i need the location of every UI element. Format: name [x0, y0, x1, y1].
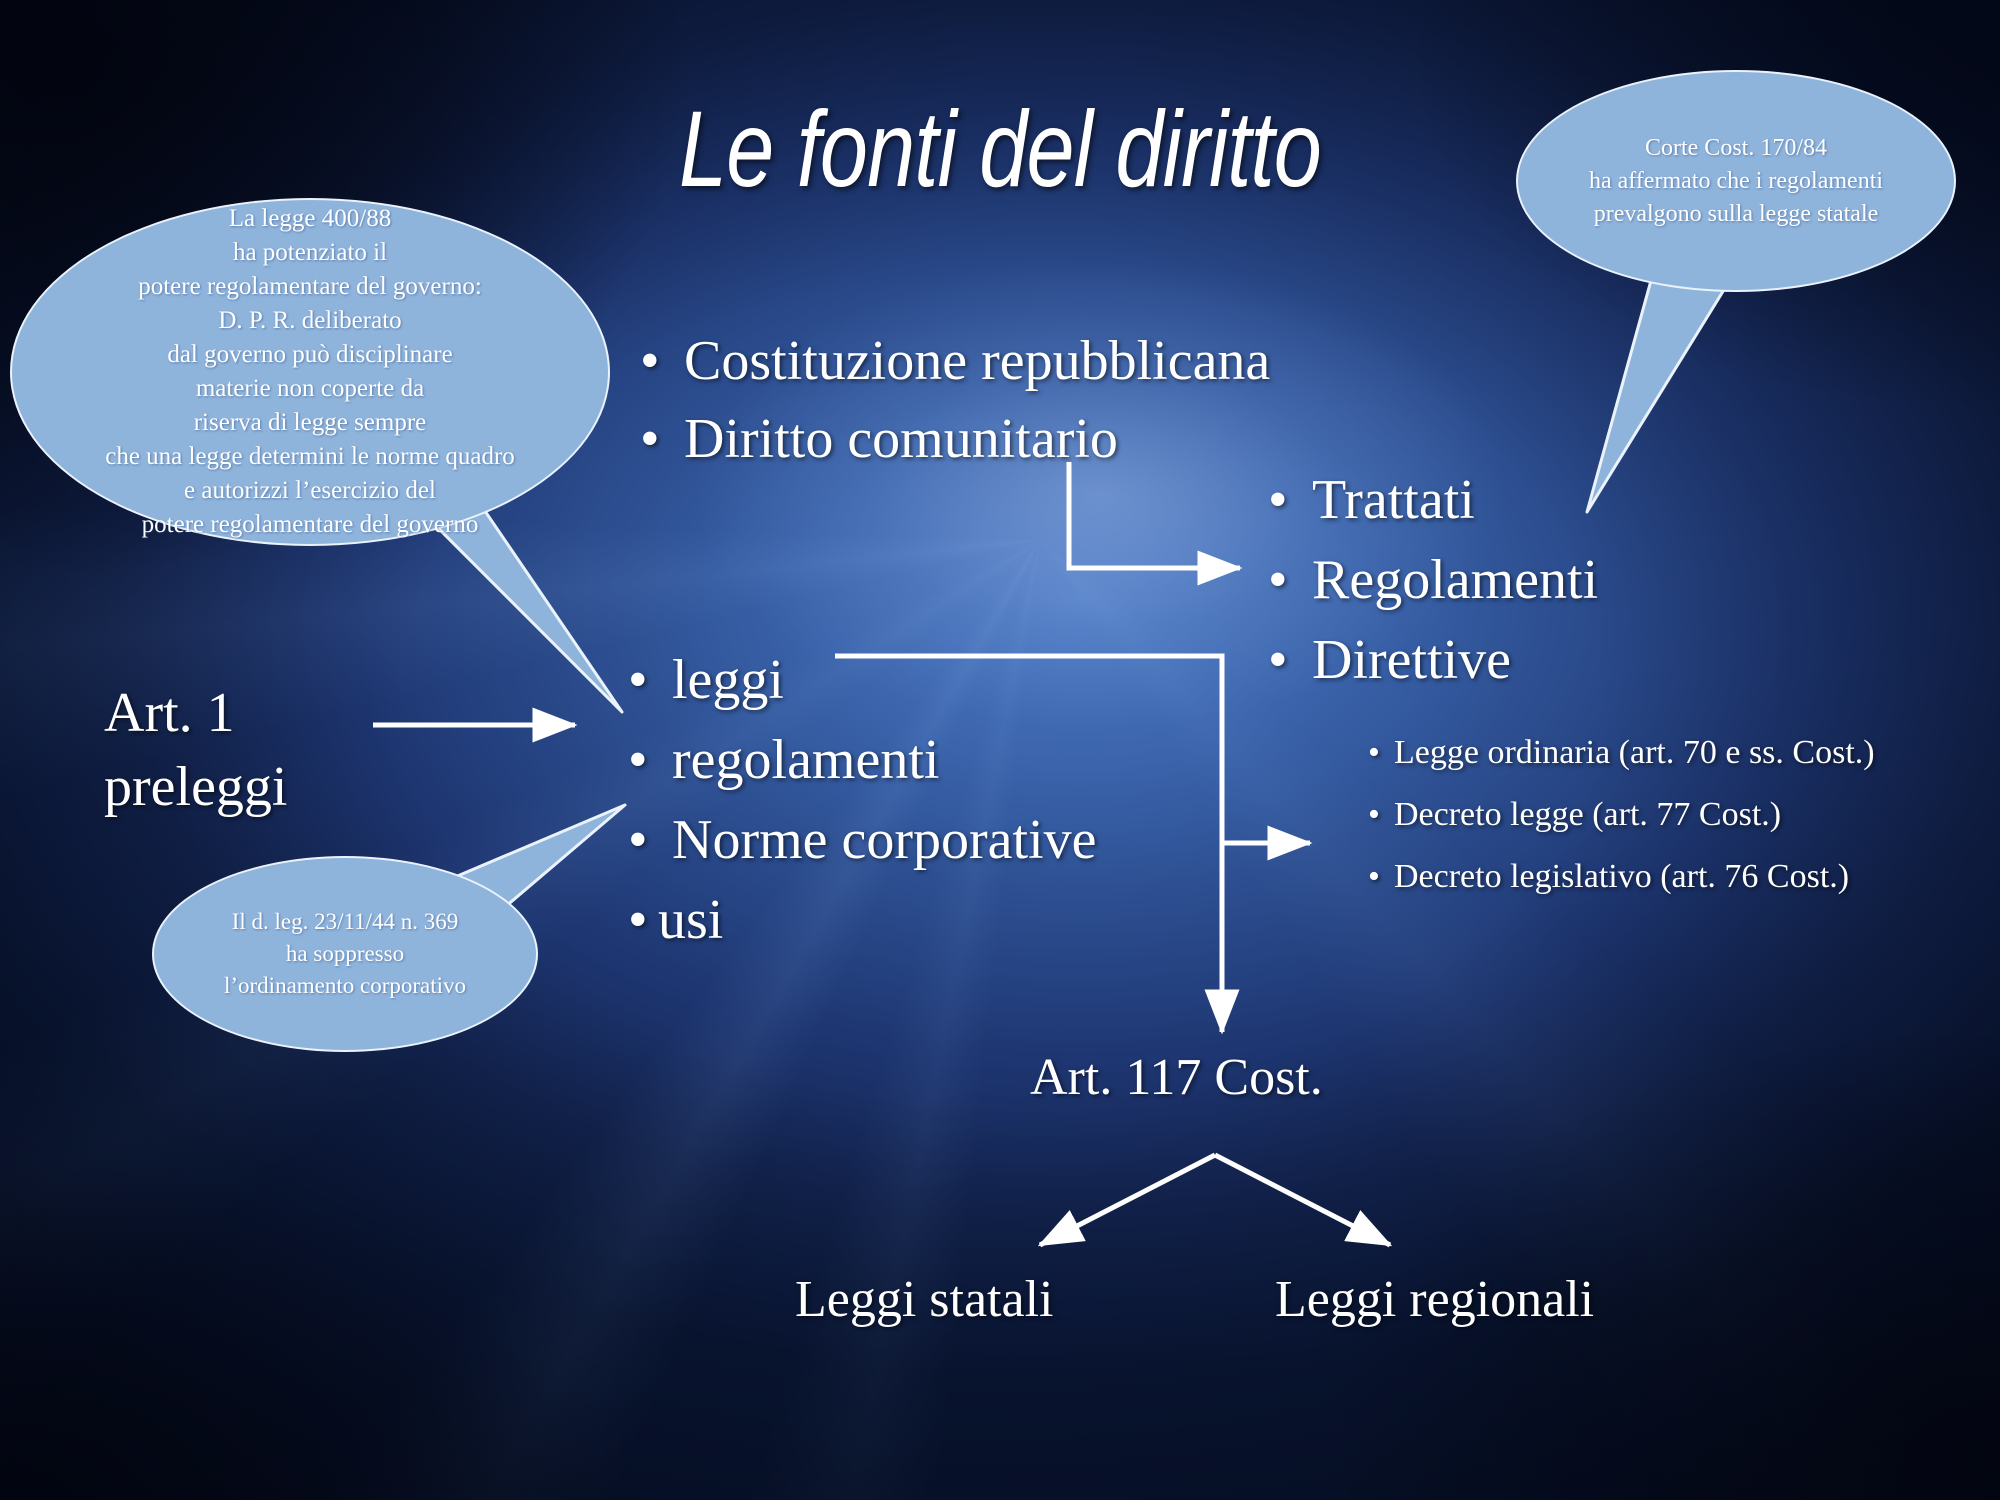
- callout-line: Corte Cost. 170/84: [1589, 132, 1883, 165]
- list-item: Decreto legislativo (art. 76 Cost.): [1368, 846, 1875, 908]
- callout-d-leg-text: Il d. leg. 23/11/44 n. 369 ha soppresso …: [198, 906, 492, 1002]
- list-item: usi: [628, 880, 1096, 960]
- list-item: Regolamenti: [1268, 540, 1598, 620]
- list-item: Norme corporative: [628, 800, 1096, 880]
- list-item: Costituzione repubblicana: [640, 322, 1270, 400]
- callout-line: La legge 400/88: [105, 202, 515, 236]
- callout-line: Il d. leg. 23/11/44 n. 369: [224, 906, 466, 938]
- list-item: Diritto comunitario: [640, 400, 1270, 478]
- list-primary-sources: Costituzione repubblicana Diritto comuni…: [640, 322, 1270, 478]
- callout-line: riserva di legge sempre: [105, 406, 515, 440]
- callout-line: materie non coperte da: [105, 372, 515, 406]
- list-eu-sources: Trattati Regolamenti Direttive: [1268, 460, 1598, 700]
- callout-line: potere regolamentare del governo:: [105, 270, 515, 304]
- callout-line: e autorizzi l’esercizio del: [105, 474, 515, 508]
- list-internal-sources: leggi regolamenti Norme corporative usi: [628, 640, 1096, 960]
- callout-line: che una legge determini le norme quadro: [105, 440, 515, 474]
- list-item: Direttive: [1268, 620, 1598, 700]
- callout-line: ha potenziato il: [105, 236, 515, 270]
- callout-line: dal governo può disciplinare: [105, 338, 515, 372]
- callout-legge-400-text: La legge 400/88 ha potenziato il potere …: [79, 202, 541, 542]
- list-item: regolamenti: [628, 720, 1096, 800]
- label-art1-line2: preleggi: [104, 750, 287, 824]
- callout-legge-400[interactable]: La legge 400/88 ha potenziato il potere …: [10, 198, 610, 546]
- list-legislative-acts: Legge ordinaria (art. 70 e ss. Cost.) De…: [1368, 722, 1875, 908]
- callout-line: ha soppresso: [224, 938, 466, 970]
- callout-line: prevalgono sulla legge statale: [1589, 198, 1883, 231]
- label-art1-preleggi: Art. 1 preleggi: [104, 676, 287, 824]
- label-leggi-statali: Leggi statali: [795, 1270, 1053, 1329]
- label-art1-line1: Art. 1: [104, 676, 287, 750]
- callout-corte-cost-text: Corte Cost. 170/84 ha affermato che i re…: [1563, 132, 1909, 231]
- callout-corte-cost[interactable]: Corte Cost. 170/84 ha affermato che i re…: [1516, 70, 1956, 292]
- list-item: Decreto legge (art. 77 Cost.): [1368, 784, 1875, 846]
- list-item: Trattati: [1268, 460, 1598, 540]
- slide-canvas: Le fonti del diritto La legge 400/88 ha …: [0, 0, 2000, 1500]
- list-item: leggi: [628, 640, 1096, 720]
- callout-d-leg[interactable]: Il d. leg. 23/11/44 n. 369 ha soppresso …: [152, 856, 538, 1052]
- callout-line: l’ordinamento corporativo: [224, 970, 466, 1002]
- callout-line: D. P. R. deliberato: [105, 304, 515, 338]
- callout-line: potere regolamentare del governo: [105, 508, 515, 542]
- label-leggi-regionali: Leggi regionali: [1275, 1270, 1594, 1329]
- list-item: Legge ordinaria (art. 70 e ss. Cost.): [1368, 722, 1875, 784]
- label-art117-cost: Art. 117 Cost.: [1030, 1048, 1323, 1107]
- callout-line: ha affermato che i regolamenti: [1589, 165, 1883, 198]
